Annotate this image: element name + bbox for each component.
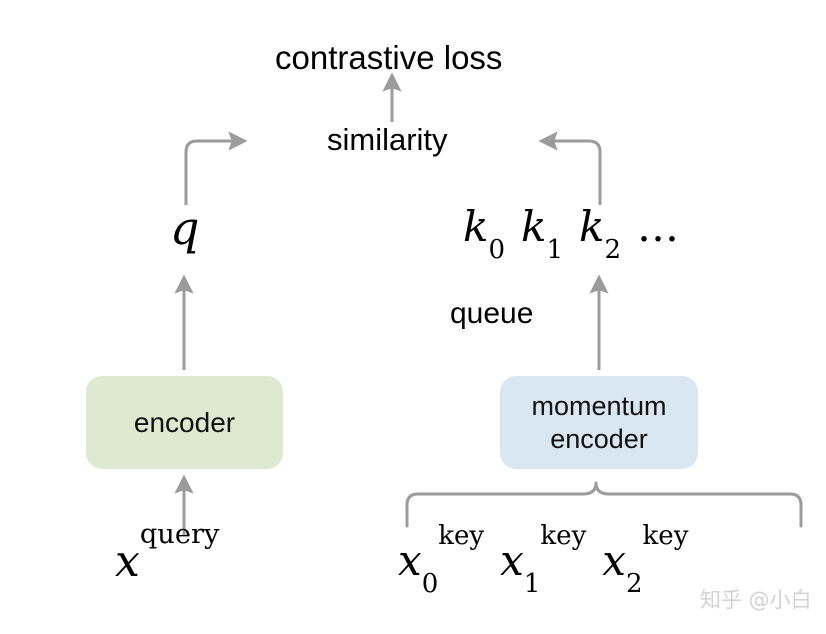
momentum-encoder-label-line1: momentum	[531, 391, 666, 421]
x-key-0: x0key	[398, 536, 484, 585]
key-vectors-group: k0k1k2…	[463, 206, 681, 248]
x-keys-group: x0keyx1keyx2key	[398, 540, 704, 582]
x-key-1: x1key	[500, 536, 586, 585]
key-vector-1: k1	[521, 202, 563, 251]
query-vector-symbol: q	[170, 205, 199, 251]
key-vector-2: k2	[579, 202, 621, 251]
arrow-keys-to-similarity	[551, 141, 600, 205]
x-key-2: x2key	[602, 536, 688, 585]
similarity-label: similarity	[327, 124, 448, 155]
x-query-symbol: xquery	[115, 540, 219, 584]
queue-label: queue	[450, 299, 533, 329]
diagram-canvas: contrastive loss similarity q k0k1k2… qu…	[0, 0, 826, 634]
encoder-box-label: encoder	[134, 407, 235, 439]
contrastive-loss-label: contrastive loss	[275, 41, 502, 74]
momentum-encoder-box-label: momentum encoder	[531, 390, 666, 456]
encoder-box[interactable]: encoder	[86, 376, 283, 469]
arrow-q-to-similarity	[186, 141, 235, 205]
momentum-encoder-label-line2: encoder	[550, 424, 648, 454]
watermark: 知乎 @小白	[700, 584, 812, 614]
key-vectors-ellipsis: …	[637, 202, 681, 251]
underbrace-keys	[407, 483, 801, 526]
key-vector-0: k0	[463, 202, 505, 251]
momentum-encoder-box[interactable]: momentum encoder	[500, 376, 698, 469]
